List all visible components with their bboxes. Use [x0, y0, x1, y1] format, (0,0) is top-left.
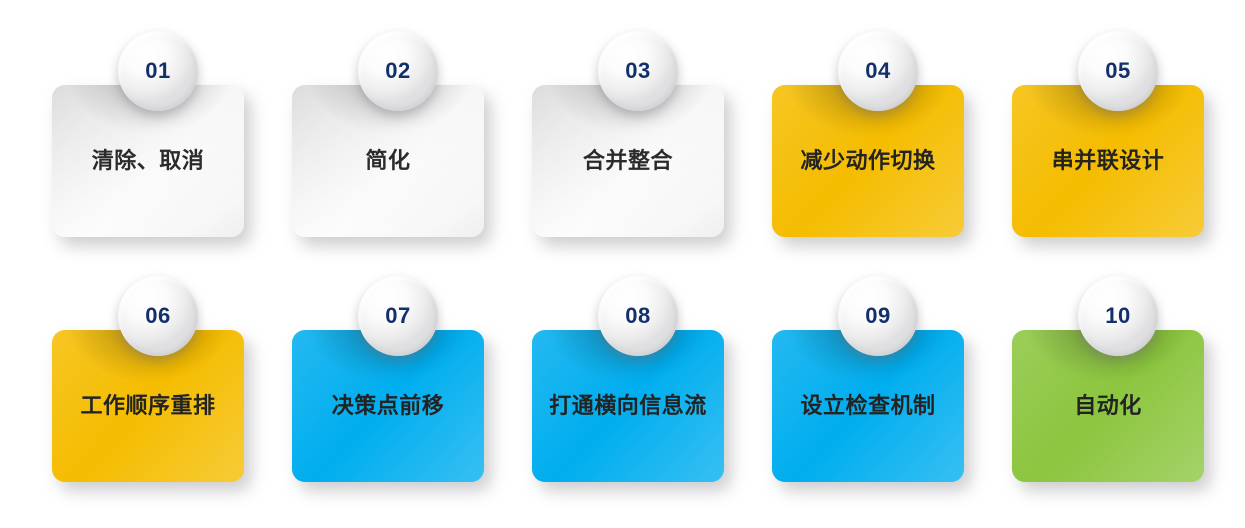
step-badge-01[interactable]: 01: [118, 31, 198, 111]
card-cell-10: 自动化10: [1012, 276, 1204, 476]
card-label: 打通横向信息流: [541, 393, 715, 419]
card-label: 决策点前移: [324, 393, 453, 419]
card-cell-01: 清除、取消01: [52, 31, 244, 231]
card-cell-06: 工作顺序重排06: [52, 276, 244, 476]
badge-number: 09: [865, 305, 890, 327]
card-cell-07: 决策点前移07: [292, 276, 484, 476]
card-cell-09: 设立检查机制09: [772, 276, 964, 476]
card-cell-02: 简化02: [292, 31, 484, 231]
card-label: 自动化: [1066, 393, 1150, 419]
card-row-1: 清除、取消01简化02合并整合03减少动作切换04串并联设计05: [0, 31, 1245, 231]
badge-number: 06: [145, 305, 170, 327]
step-badge-02[interactable]: 02: [358, 31, 438, 111]
card-cell-03: 合并整合03: [532, 31, 724, 231]
card-label: 串并联设计: [1044, 148, 1173, 174]
step-badge-08[interactable]: 08: [598, 276, 678, 356]
card-label: 减少动作切换: [792, 148, 943, 174]
badge-number: 08: [625, 305, 650, 327]
badge-number: 03: [625, 60, 650, 82]
card-label: 简化: [357, 148, 418, 174]
card-label: 设立检查机制: [792, 393, 943, 419]
step-badge-04[interactable]: 04: [838, 31, 918, 111]
step-badge-10[interactable]: 10: [1078, 276, 1158, 356]
card-label: 工作顺序重排: [72, 393, 223, 419]
card-label: 清除、取消: [84, 148, 213, 174]
step-badge-09[interactable]: 09: [838, 276, 918, 356]
card-row-2: 工作顺序重排06决策点前移07打通横向信息流08设立检查机制09自动化10: [0, 276, 1245, 476]
card-cell-05: 串并联设计05: [1012, 31, 1204, 231]
badge-number: 01: [145, 60, 170, 82]
step-badge-05[interactable]: 05: [1078, 31, 1158, 111]
step-badge-07[interactable]: 07: [358, 276, 438, 356]
badge-number: 02: [385, 60, 410, 82]
step-badge-03[interactable]: 03: [598, 31, 678, 111]
cards-board: 清除、取消01简化02合并整合03减少动作切换04串并联设计05工作顺序重排06…: [0, 0, 1245, 528]
step-badge-06[interactable]: 06: [118, 276, 198, 356]
badge-number: 07: [385, 305, 410, 327]
badge-number: 05: [1105, 60, 1130, 82]
badge-number: 10: [1105, 305, 1130, 327]
card-cell-04: 减少动作切换04: [772, 31, 964, 231]
card-cell-08: 打通横向信息流08: [532, 276, 724, 476]
card-label: 合并整合: [575, 148, 681, 174]
badge-number: 04: [865, 60, 890, 82]
